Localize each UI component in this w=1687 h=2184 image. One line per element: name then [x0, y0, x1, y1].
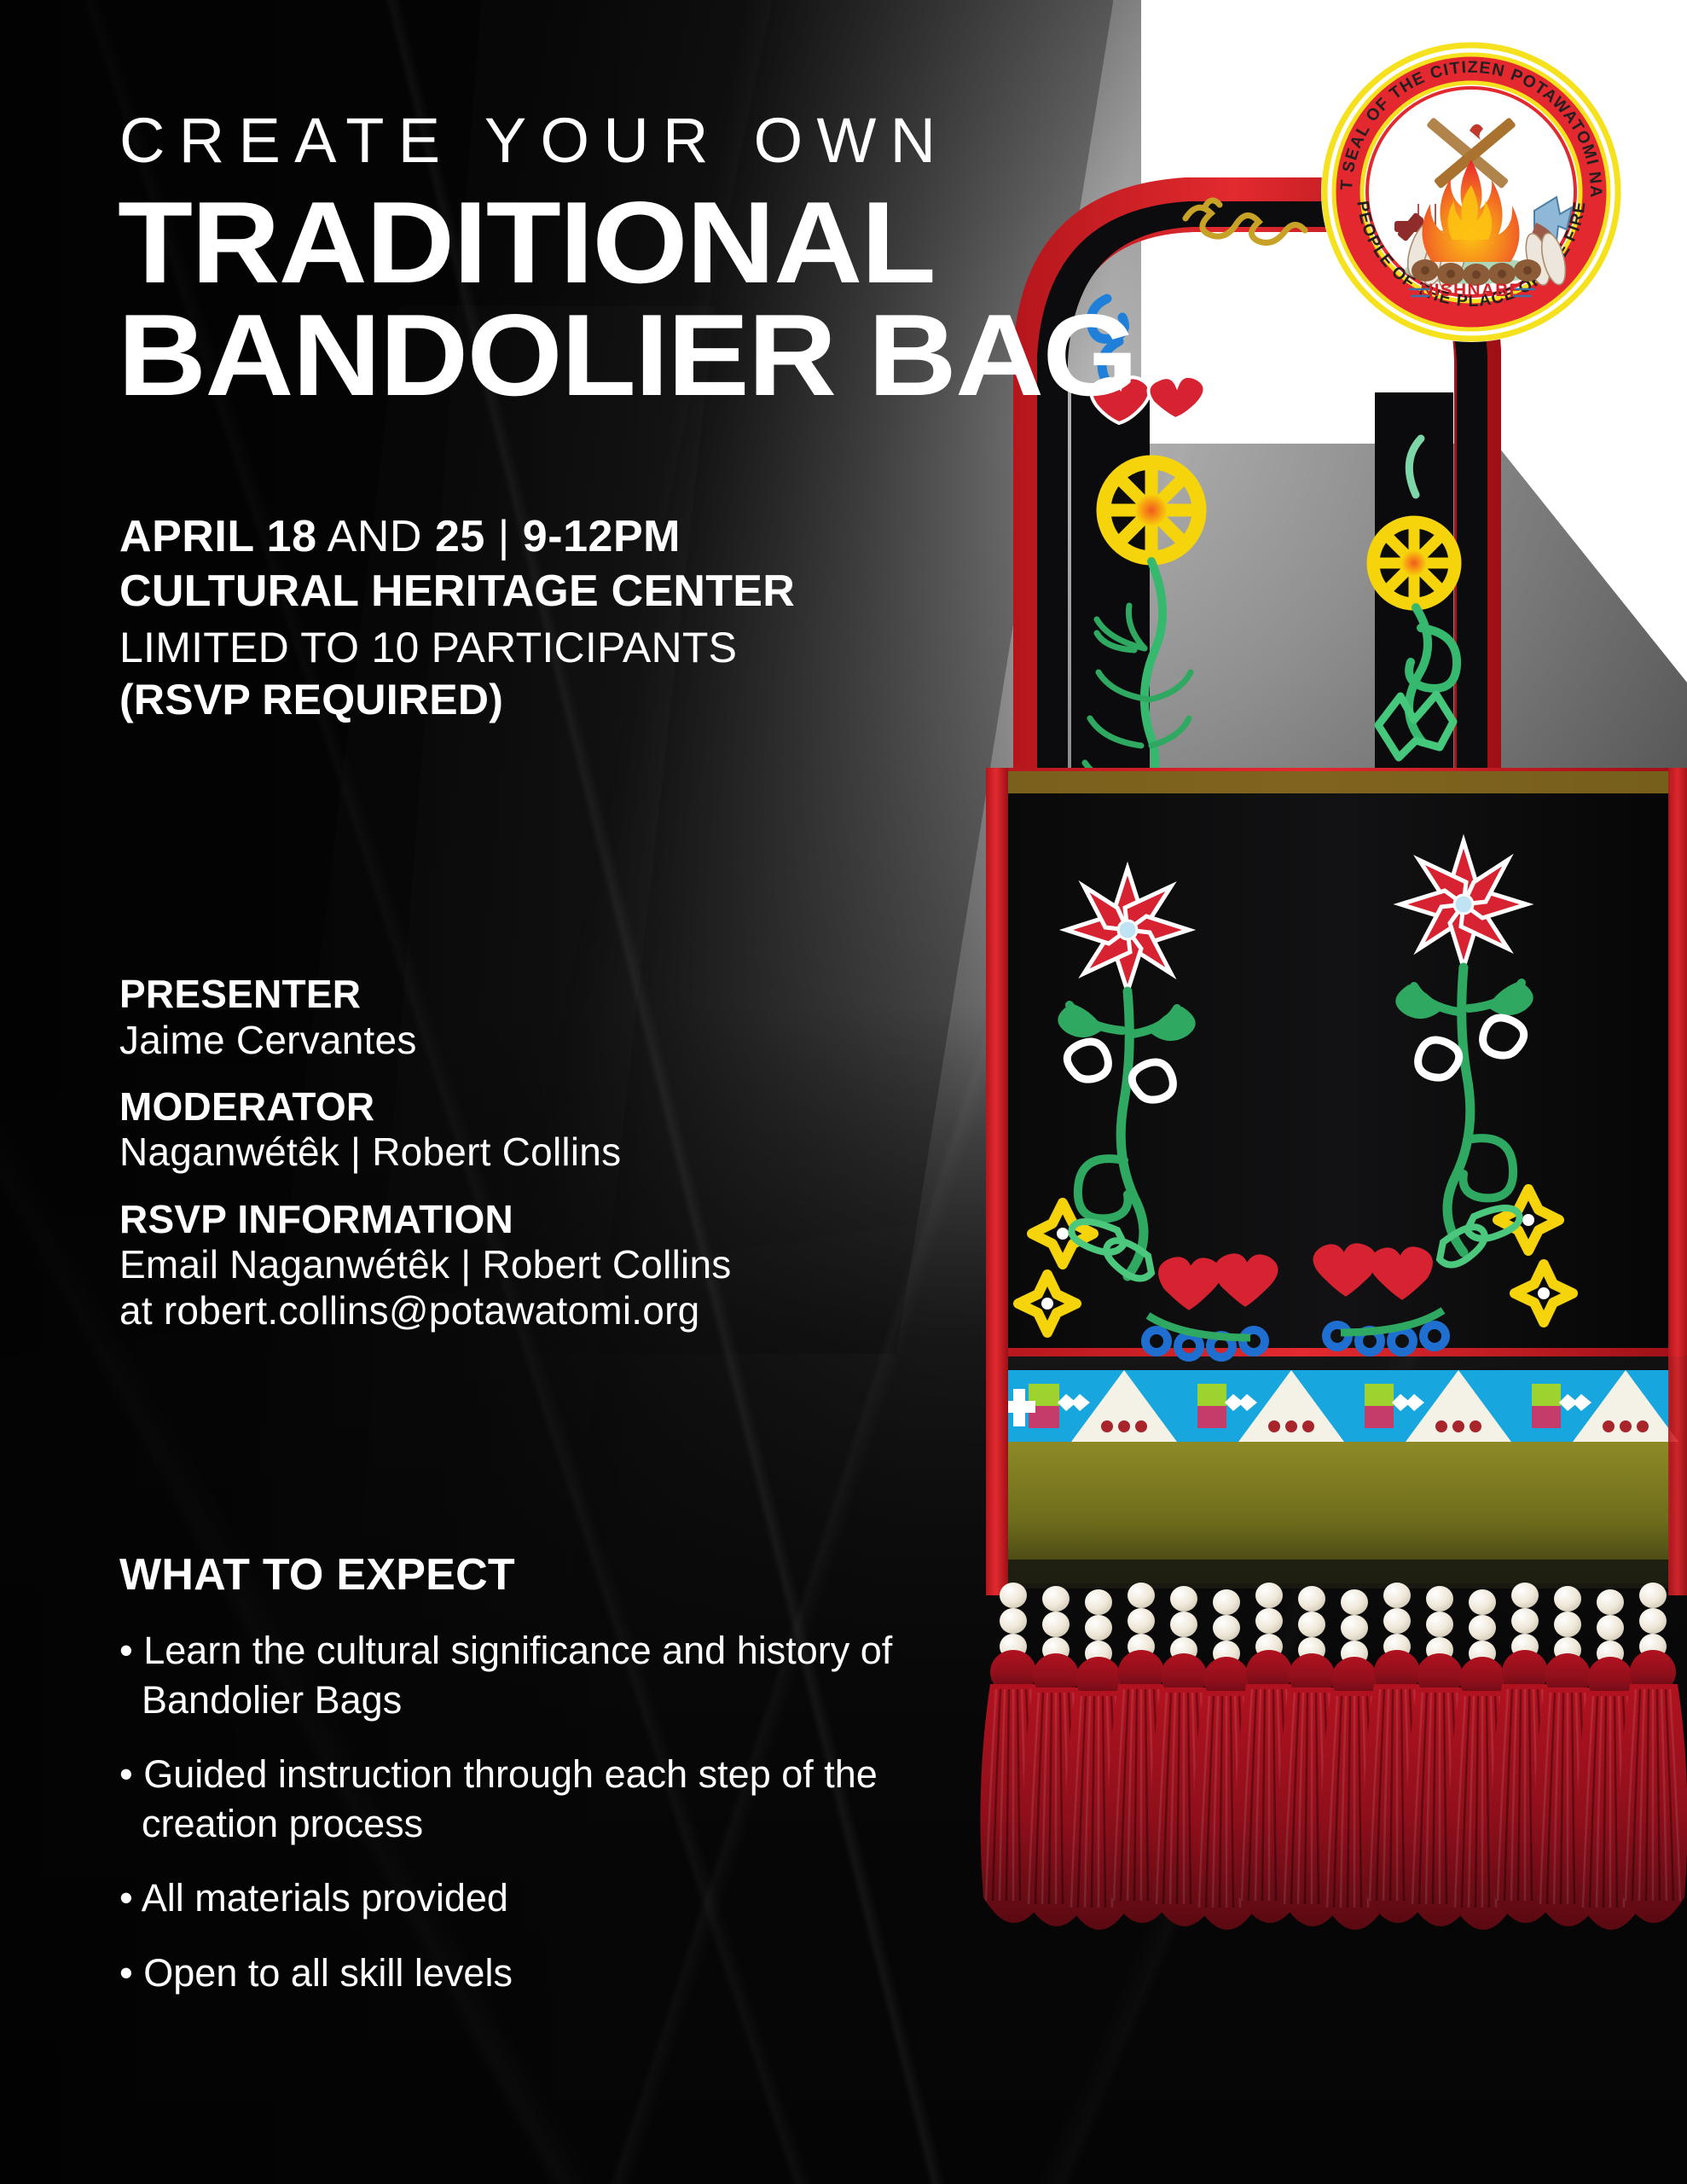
tassel-bead [1426, 1586, 1453, 1612]
presenter-label: PRESENTER [119, 973, 972, 1017]
tassel-bead [1298, 1586, 1325, 1612]
bandolier-bag-image [904, 136, 1687, 2184]
tassel-bead [1255, 1583, 1283, 1608]
expect-item-3: • Open to all skill levels [119, 1949, 904, 1998]
moderator-name: Naganwétêk | Robert Collins [119, 1129, 972, 1175]
poster-title-line1: TRADITIONAL [118, 186, 935, 299]
tassel-bead [1511, 1583, 1539, 1608]
tassel-bead [1170, 1612, 1197, 1637]
bag-tassels [980, 1583, 1687, 1930]
tassel-bead [1469, 1615, 1496, 1641]
tassel-bead [1426, 1612, 1453, 1637]
tassel-bead [1597, 1589, 1624, 1615]
tassel-bead [1255, 1608, 1283, 1634]
rsvp-line-1: Email Naganwétêk | Robert Collins [119, 1241, 972, 1287]
tassel-bead [1341, 1615, 1368, 1641]
event-date-first: APRIL 18 [119, 512, 317, 561]
tassel-bead [1639, 1608, 1667, 1634]
presenter-name: Jaime Cervantes [119, 1017, 972, 1063]
tassel-bead [1213, 1589, 1240, 1615]
event-details: APRIL 18 AND 25 | 9-12PM CULTURAL HERITA… [119, 512, 972, 725]
expect-item-2: • All materials provided [119, 1873, 904, 1923]
tassel-bead [1128, 1583, 1155, 1608]
poster-kicker: CREATE YOUR OWN [119, 109, 949, 172]
tassel-bead [1170, 1586, 1197, 1612]
seal-center-text: NISHNABE [1420, 281, 1522, 300]
poster-title-line2: BANDOLIER BAG [118, 299, 1137, 412]
poster-canvas: GREAT SEAL OF THE CITIZEN POTAWATOMI NAT… [0, 0, 1687, 2184]
event-time: 9-12PM [523, 512, 681, 561]
tassel-bead [1298, 1612, 1325, 1637]
tassel-bead [1000, 1583, 1027, 1608]
expect-item-1: • Guided instruction through each step o… [119, 1750, 904, 1848]
tassel-bead [1042, 1612, 1070, 1637]
tassel-bead [1383, 1583, 1411, 1608]
moderator-label: MODERATOR [119, 1085, 972, 1130]
people-block: PRESENTER Jaime Cervantes MODERATOR Naga… [119, 973, 972, 1334]
tassel-bead [1213, 1615, 1240, 1641]
expect-item-0: • Learn the cultural significance and hi… [119, 1626, 904, 1724]
tassel-bead [1469, 1589, 1496, 1615]
event-date-separator: | [485, 512, 523, 561]
event-date-second: 25 [435, 512, 485, 561]
event-capacity: LIMITED TO 10 PARTICIPANTS [119, 621, 972, 674]
event-datetime: APRIL 18 AND 25 | 9-12PM [119, 512, 972, 561]
tassel-bead [1042, 1586, 1070, 1612]
rsvp-email-line[interactable]: at robert.collins@potawatomi.org [119, 1287, 972, 1333]
tassel-bead [1554, 1586, 1581, 1612]
tassel-bead [1639, 1583, 1667, 1608]
tassel-bead [1085, 1589, 1112, 1615]
event-venue: CULTURAL HERITAGE CENTER [119, 561, 972, 621]
tassel-bead [1341, 1589, 1368, 1615]
event-rsvp-required: (RSVP REQUIRED) [119, 674, 972, 725]
rsvp-information-label: RSVP INFORMATION [119, 1198, 972, 1242]
tassel-bead [1597, 1615, 1624, 1641]
tassel-bead [1511, 1608, 1539, 1634]
tassel-bead [1000, 1608, 1027, 1634]
event-date-join: AND [317, 512, 435, 561]
tassel-bead [1085, 1615, 1112, 1641]
what-to-expect-heading: WHAT TO EXPECT [119, 1553, 904, 1597]
tassel-bead [1128, 1608, 1155, 1634]
tassel-bead [1383, 1608, 1411, 1634]
tassel-bead [1554, 1612, 1581, 1637]
beaded-band [1003, 1370, 1678, 1442]
what-to-expect-block: WHAT TO EXPECT • Learn the cultural sign… [119, 1553, 904, 2024]
citizen-potawatomi-nation-seal: GREAT SEAL OF THE CITIZEN POTAWATOMI NAT… [1318, 38, 1625, 346]
